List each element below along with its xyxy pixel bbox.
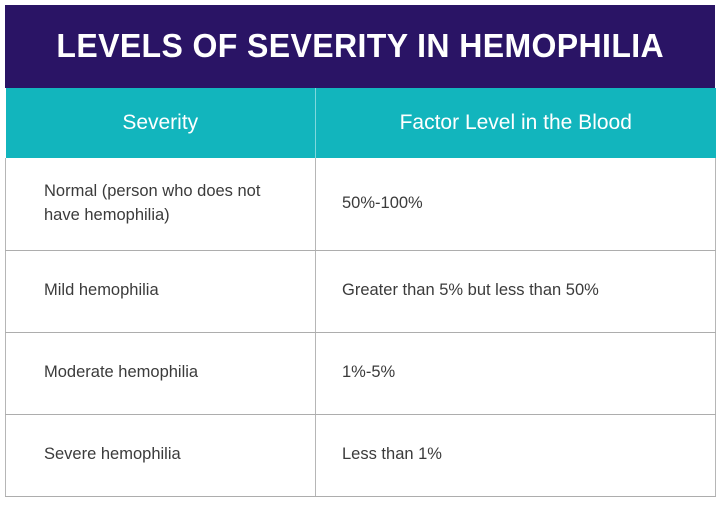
column-header-severity: Severity	[6, 88, 316, 158]
table-row: Moderate hemophilia 1%-5%	[6, 332, 716, 414]
cell-factor-level: Less than 1%	[316, 414, 716, 496]
cell-severity: Moderate hemophilia	[6, 332, 316, 414]
cell-severity: Normal (person who does not have hemophi…	[6, 158, 316, 250]
levels-of-severity-table: Severity Factor Level in the Blood Norma…	[5, 88, 716, 497]
title-banner: LEVELS OF SEVERITY IN HEMOPHILIA	[5, 5, 715, 88]
cell-factor-level: Greater than 5% but less than 50%	[316, 250, 716, 332]
page-root: LEVELS OF SEVERITY IN HEMOPHILIA Severit…	[0, 0, 720, 506]
cell-factor-level: 50%-100%	[316, 158, 716, 250]
table-body: Normal (person who does not have hemophi…	[6, 158, 716, 496]
severity-table-container: LEVELS OF SEVERITY IN HEMOPHILIA Severit…	[5, 5, 715, 497]
cell-factor-level: 1%-5%	[316, 332, 716, 414]
table-row: Mild hemophilia Greater than 5% but less…	[6, 250, 716, 332]
table-row: Normal (person who does not have hemophi…	[6, 158, 716, 250]
column-header-factor-level: Factor Level in the Blood	[316, 88, 716, 158]
table-header: Severity Factor Level in the Blood	[6, 88, 716, 158]
cell-severity: Mild hemophilia	[6, 250, 316, 332]
page-title: LEVELS OF SEVERITY IN HEMOPHILIA	[56, 28, 664, 64]
cell-severity: Severe hemophilia	[6, 414, 316, 496]
table-row: Severe hemophilia Less than 1%	[6, 414, 716, 496]
table-header-row: Severity Factor Level in the Blood	[6, 88, 716, 158]
